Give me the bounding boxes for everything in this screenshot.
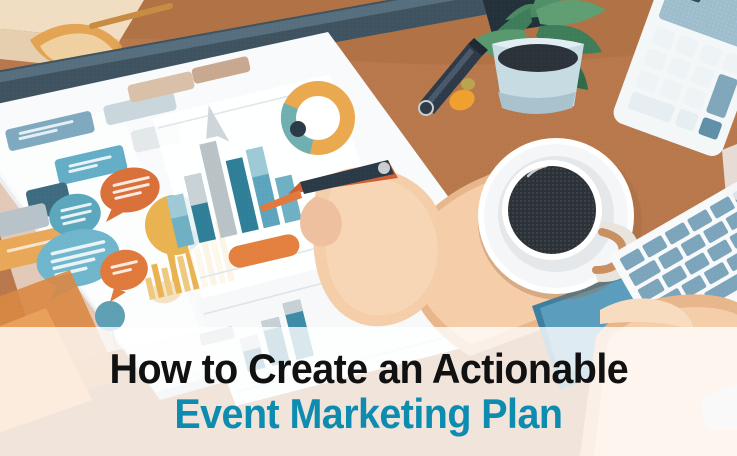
title-overlay: How to Create an Actionable Event Market… [0,327,737,456]
banner-root: How to Create an Actionable Event Market… [0,0,737,456]
title-line-primary: How to Create an Actionable [109,348,628,391]
title-line-accent: Event Marketing Plan [174,393,562,436]
